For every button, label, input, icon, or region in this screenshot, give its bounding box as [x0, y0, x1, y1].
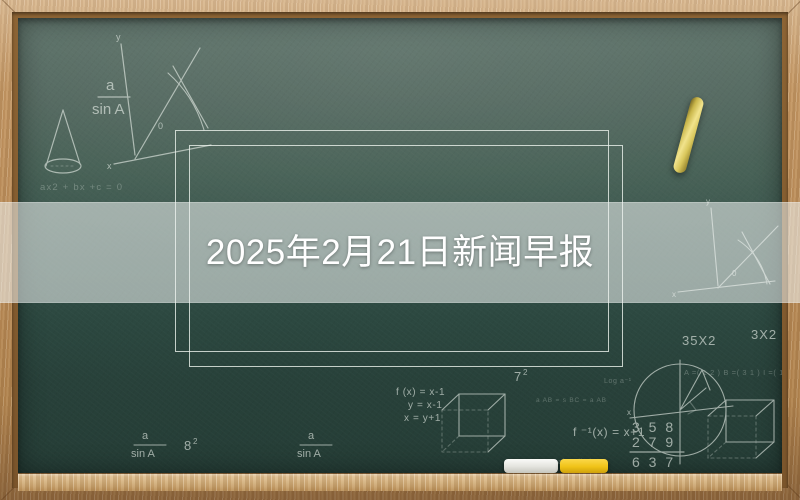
- svg-text:2: 2: [523, 368, 528, 377]
- label-axis-y-right: y: [706, 197, 710, 206]
- chalkboard-surface: a sin A ax2 + bx +c = 0 y x 0 y: [18, 18, 782, 473]
- annotation-a-over-sin-a-left: a sin A: [131, 430, 166, 460]
- svg-text:y = x-1: y = x-1: [408, 400, 443, 411]
- svg-text:a: a: [106, 77, 115, 94]
- label-theta-right: 0: [732, 269, 737, 278]
- label-axis-x-top: x: [107, 161, 112, 171]
- svg-text:x: x: [672, 290, 676, 299]
- label-axis-y-top: y: [116, 32, 121, 42]
- white-eraser-tray: [504, 459, 558, 473]
- annotation-column-addition: 3 5 8 2 7 9 6 3 7: [630, 419, 684, 470]
- annotation-function-block: f (x) = x-1 y = x-1 x = y+1: [396, 387, 445, 424]
- svg-text:x = y+1: x = y+1: [404, 413, 441, 424]
- svg-text:6 3 7: 6 3 7: [632, 454, 676, 470]
- svg-text:a: a: [308, 430, 315, 442]
- svg-text:a: a: [142, 430, 149, 442]
- svg-text:2: 2: [193, 437, 198, 446]
- annotation-log-expression: Log a⁻¹: [604, 378, 632, 385]
- cube-wireframe-center: [442, 394, 505, 452]
- svg-text:7: 7: [514, 369, 521, 384]
- cube-wireframe-right: [708, 400, 774, 458]
- cone-diagram: [45, 110, 81, 173]
- annotation-a-over-sin-a-center: a sin A: [297, 430, 332, 460]
- svg-text:8: 8: [184, 438, 191, 453]
- annotation-triangle-rule: a AB = s BC = a AB: [536, 397, 607, 404]
- chalk-drawing-layer: a sin A ax2 + bx +c = 0 y x 0 y: [18, 18, 782, 473]
- annotation-powers: 7 2 8 2: [184, 368, 528, 453]
- annotation-a-over-sin-a-top: a sin A: [92, 77, 130, 118]
- chalk-tray: [18, 473, 782, 491]
- svg-text:3 5 8: 3 5 8: [632, 419, 676, 435]
- label-axis-x-circle: x: [627, 408, 631, 417]
- annotation-matrix-35x2: 35X2: [682, 333, 716, 348]
- svg-text:sin A: sin A: [92, 101, 125, 118]
- svg-text:f (x) = x-1: f (x) = x-1: [396, 387, 445, 398]
- yellow-chalk-tray: [560, 459, 608, 473]
- annotation-quadratic: ax2 + bx +c = 0: [40, 182, 123, 193]
- annotation-matrix-3x2: 3X2: [751, 327, 777, 342]
- label-theta-top: 0: [158, 121, 163, 131]
- svg-text:sin A: sin A: [131, 448, 156, 460]
- chalkboard-banner: a sin A ax2 + bx +c = 0 y x 0 y: [0, 0, 800, 500]
- svg-text:sin A: sin A: [297, 448, 322, 460]
- arc-angle-top-right: y x 0: [672, 197, 778, 299]
